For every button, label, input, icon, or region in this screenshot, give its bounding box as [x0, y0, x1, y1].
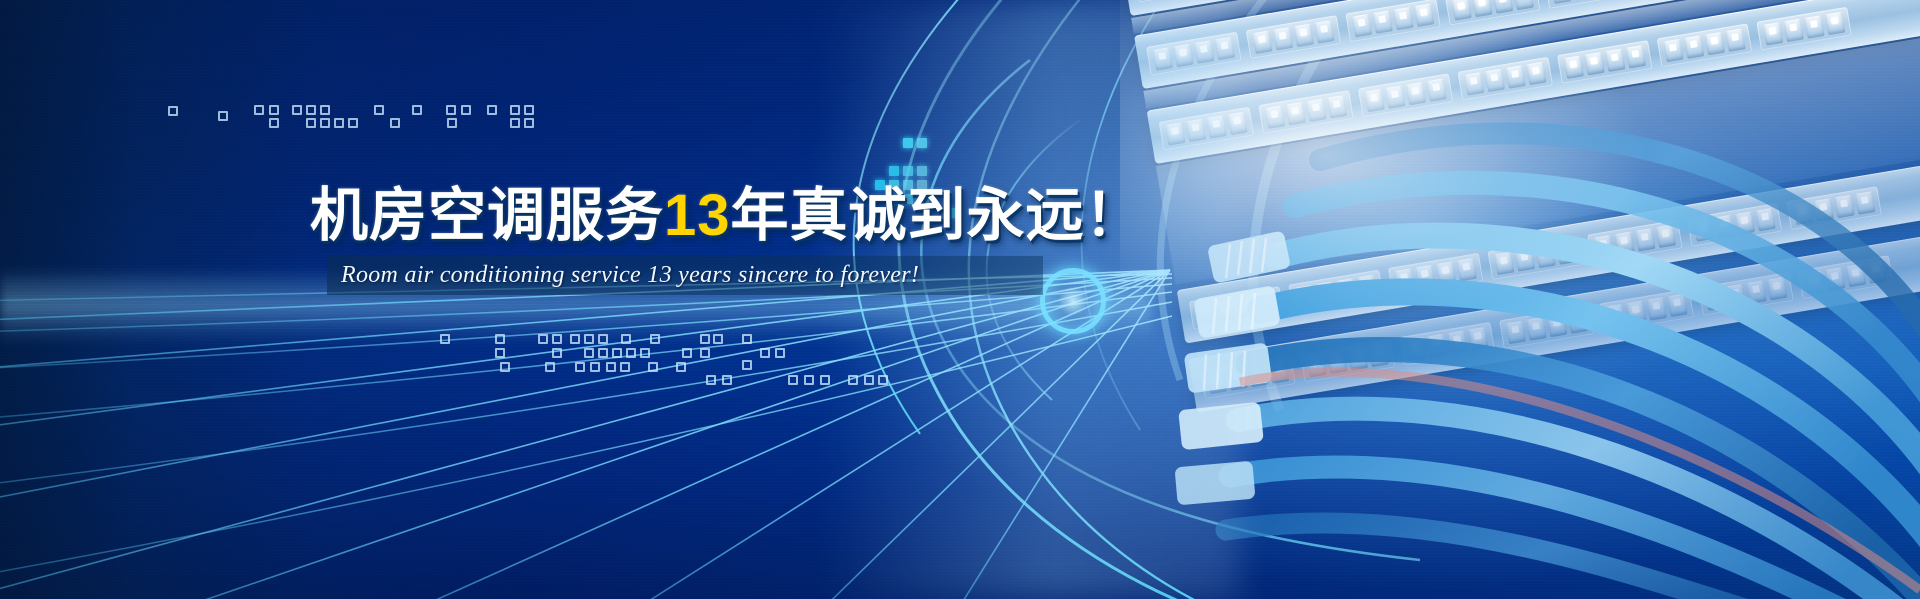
headline-highlight-number: 13 — [664, 183, 731, 248]
pixel-square — [917, 138, 927, 148]
banner-subtitle: Room air conditioning service 13 years s… — [341, 258, 919, 293]
pixel-square — [903, 138, 913, 148]
headline-prefix: 机房空调服务 — [310, 183, 664, 248]
decor-pixel-cluster — [0, 0, 1920, 599]
banner-headline: 机房空调服务13年真诚到永远！ — [310, 168, 1144, 252]
headline-suffix: 年真诚到永远！ — [731, 183, 1144, 248]
hero-banner: 机房空调服务13年真诚到永远！ Room air conditioning se… — [0, 0, 1920, 599]
